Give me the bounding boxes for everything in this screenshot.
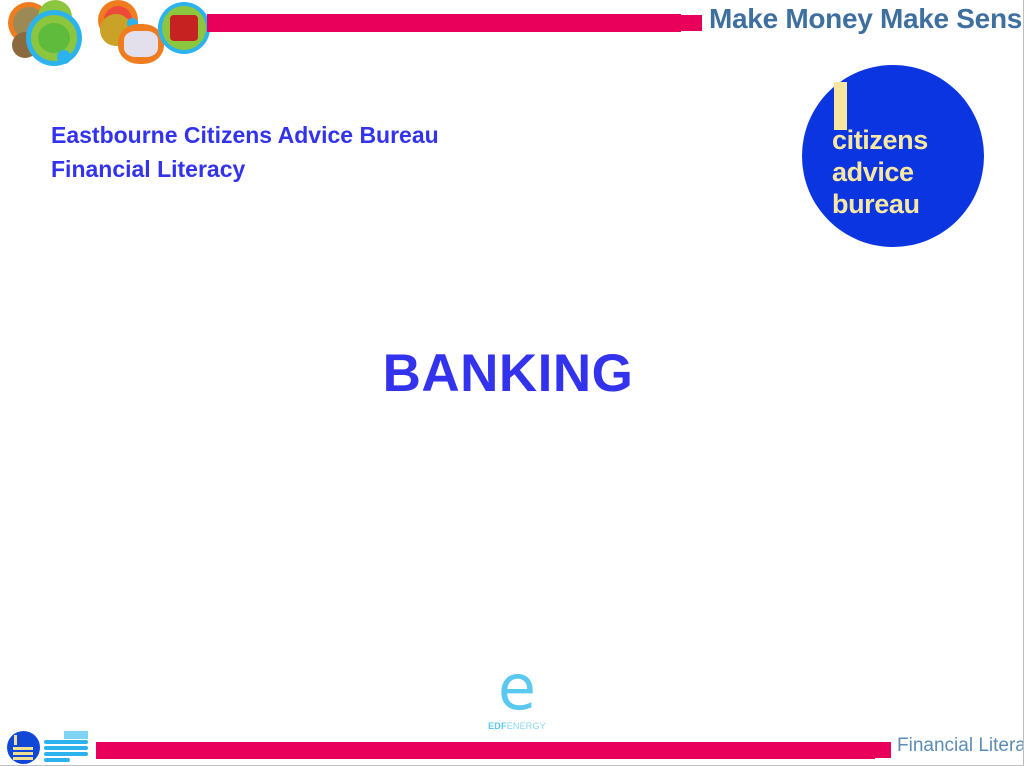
money-bubbles-decoration — [0, 0, 215, 68]
cab-logo-text: citizens advice bureau — [832, 124, 928, 220]
main-heading-text: BANKING — [383, 344, 634, 403]
cab-logo-line-1: citizens — [832, 124, 928, 156]
eastbourne-wave-1 — [44, 740, 88, 744]
eastbourne-wave-4 — [44, 758, 70, 762]
presentation-slide: Make Money Make Sense Eastbourne Citizen… — [0, 0, 1024, 766]
eastbourne-wave-3 — [44, 752, 88, 756]
footer-cab-line-3 — [13, 757, 33, 760]
tagline-pink-swatch — [676, 15, 702, 31]
page-title: Eastbourne Citizens Advice Bureau Financ… — [51, 118, 439, 186]
footer-pink-swatch — [869, 742, 891, 758]
footer-cab-line-1 — [13, 747, 33, 750]
main-heading: BANKING — [0, 343, 1024, 404]
top-pink-bar — [207, 14, 681, 32]
cab-logo-line-2: advice — [832, 156, 928, 188]
edf-energy-logo: e EDFENERGY — [481, 662, 553, 731]
footer-cab-logo — [7, 731, 40, 764]
edf-suffix-text: ENERGY — [507, 721, 546, 731]
footer-label: Financial Literacy — [897, 735, 1024, 757]
edf-brand-text: EDF — [488, 721, 507, 731]
citizens-advice-bureau-logo: citizens advice bureau — [802, 65, 984, 247]
cab-logo-line-3: bureau — [832, 188, 928, 220]
cyan-dot-bubble — [57, 50, 71, 64]
eastbourne-caption-icon — [64, 731, 88, 739]
eastbourne-borough-logo — [44, 731, 88, 763]
eastbourne-wave-2 — [44, 746, 88, 750]
tagline: Make Money Make Sense — [709, 3, 1024, 35]
edf-e-icon: e — [481, 662, 553, 714]
edf-wordmark: EDFENERGY — [481, 721, 553, 731]
footer-cab-bar-icon — [14, 735, 17, 745]
piggy-bank-bubble — [26, 10, 82, 66]
bottom-pink-bar — [96, 742, 875, 759]
footer-cab-line-2 — [13, 752, 33, 755]
cab-logo-bar-icon — [834, 82, 847, 130]
red-dice-bubble — [158, 2, 210, 54]
